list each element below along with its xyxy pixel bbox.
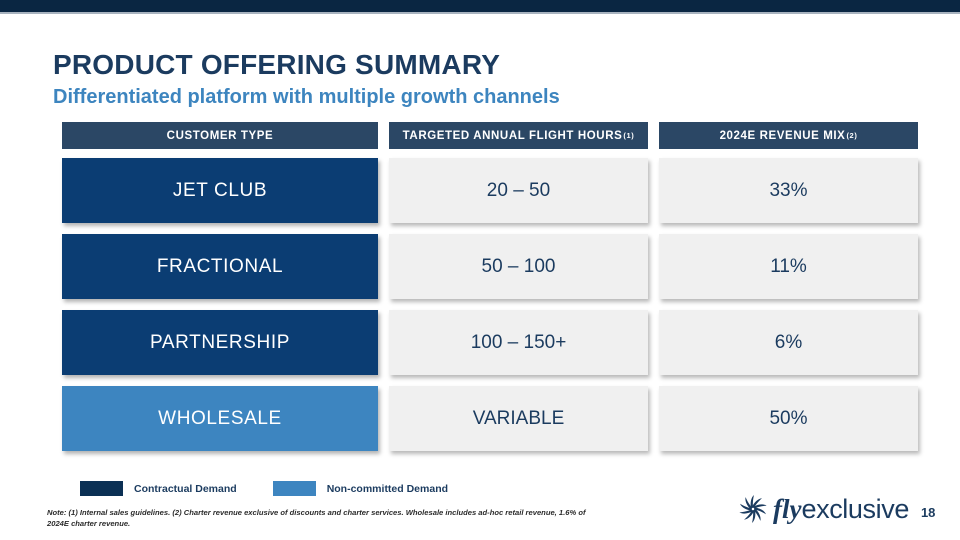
revenue-mix-cell: 11% — [659, 234, 918, 299]
legend-swatch-icon — [80, 481, 123, 496]
column-gap — [648, 234, 659, 299]
top-accent-band — [0, 0, 960, 12]
flight-hours-cell: 100 – 150+ — [389, 310, 648, 375]
customer-type-label: PARTNERSHIP — [150, 332, 290, 354]
column-header-label: 2024E REVENUE MIX — [720, 130, 846, 142]
page-number: 18 — [921, 499, 935, 520]
brand-wordmark: flyexclusive — [773, 494, 909, 524]
legend-item-non-committed: Non-committed Demand — [273, 481, 448, 496]
column-header-label: CUSTOMER TYPE — [167, 130, 274, 142]
column-header-label: TARGETED ANNUAL FLIGHT HOURS — [403, 130, 623, 142]
flight-hours-value: 50 – 100 — [482, 256, 556, 278]
flight-hours-value: VARIABLE — [473, 408, 565, 430]
column-header-flight-hours: TARGETED ANNUAL FLIGHT HOURS(1) — [389, 122, 648, 149]
customer-type-cell[interactable]: PARTNERSHIP — [62, 310, 378, 375]
product-offering-table: CUSTOMER TYPE TARGETED ANNUAL FLIGHT HOU… — [62, 122, 918, 462]
column-gap — [378, 122, 389, 149]
table-row: JET CLUB 20 – 50 33% — [62, 158, 918, 223]
column-gap — [648, 310, 659, 375]
column-header-revenue-mix: 2024E REVENUE MIX(2) — [659, 122, 918, 149]
revenue-mix-value: 33% — [769, 180, 807, 202]
table-row: PARTNERSHIP 100 – 150+ 6% — [62, 310, 918, 375]
legend: Contractual Demand Non-committed Demand — [80, 481, 448, 496]
column-gap — [378, 310, 389, 375]
top-accent-rule — [0, 12, 960, 14]
customer-type-label: WHOLESALE — [158, 408, 282, 430]
column-gap — [648, 122, 659, 149]
legend-label: Contractual Demand — [134, 483, 237, 495]
revenue-mix-cell: 50% — [659, 386, 918, 451]
flight-hours-value: 100 – 150+ — [471, 332, 567, 354]
flight-hours-cell: VARIABLE — [389, 386, 648, 451]
column-gap — [378, 234, 389, 299]
customer-type-cell[interactable]: FRACTIONAL — [62, 234, 378, 299]
legend-swatch-icon — [273, 481, 316, 496]
page-title: PRODUCT OFFERING SUMMARY — [53, 48, 560, 82]
table-header-row: CUSTOMER TYPE TARGETED ANNUAL FLIGHT HOU… — [62, 122, 918, 149]
flight-hours-cell: 20 – 50 — [389, 158, 648, 223]
customer-type-label: FRACTIONAL — [157, 256, 283, 278]
revenue-mix-cell: 33% — [659, 158, 918, 223]
revenue-mix-cell: 6% — [659, 310, 918, 375]
brand-word-fly: fly — [773, 494, 801, 524]
brand-word-exclusive: exclusive — [801, 494, 908, 524]
column-gap — [378, 158, 389, 223]
footnote: Note: (1) Internal sales guidelines. (2)… — [47, 508, 607, 529]
column-gap — [648, 386, 659, 451]
customer-type-cell[interactable]: JET CLUB — [62, 158, 378, 223]
revenue-mix-value: 50% — [769, 408, 807, 430]
column-gap — [378, 386, 389, 451]
legend-label: Non-committed Demand — [327, 483, 448, 495]
flight-hours-value: 20 – 50 — [487, 180, 550, 202]
title-block: PRODUCT OFFERING SUMMARY Differentiated … — [53, 48, 560, 110]
table-row: FRACTIONAL 50 – 100 11% — [62, 234, 918, 299]
turbine-swirl-icon — [736, 492, 770, 526]
column-gap — [648, 158, 659, 223]
flight-hours-cell: 50 – 100 — [389, 234, 648, 299]
revenue-mix-value: 6% — [775, 332, 802, 354]
column-header-customer-type: CUSTOMER TYPE — [62, 122, 378, 149]
customer-type-cell[interactable]: WHOLESALE — [62, 386, 378, 451]
legend-item-contractual: Contractual Demand — [80, 481, 237, 496]
table-row: WHOLESALE VARIABLE 50% — [62, 386, 918, 451]
customer-type-label: JET CLUB — [173, 180, 267, 202]
brand-logo: flyexclusive 18 — [736, 492, 935, 526]
revenue-mix-value: 11% — [770, 256, 807, 278]
page-subtitle: Differentiated platform with multiple gr… — [53, 84, 560, 110]
